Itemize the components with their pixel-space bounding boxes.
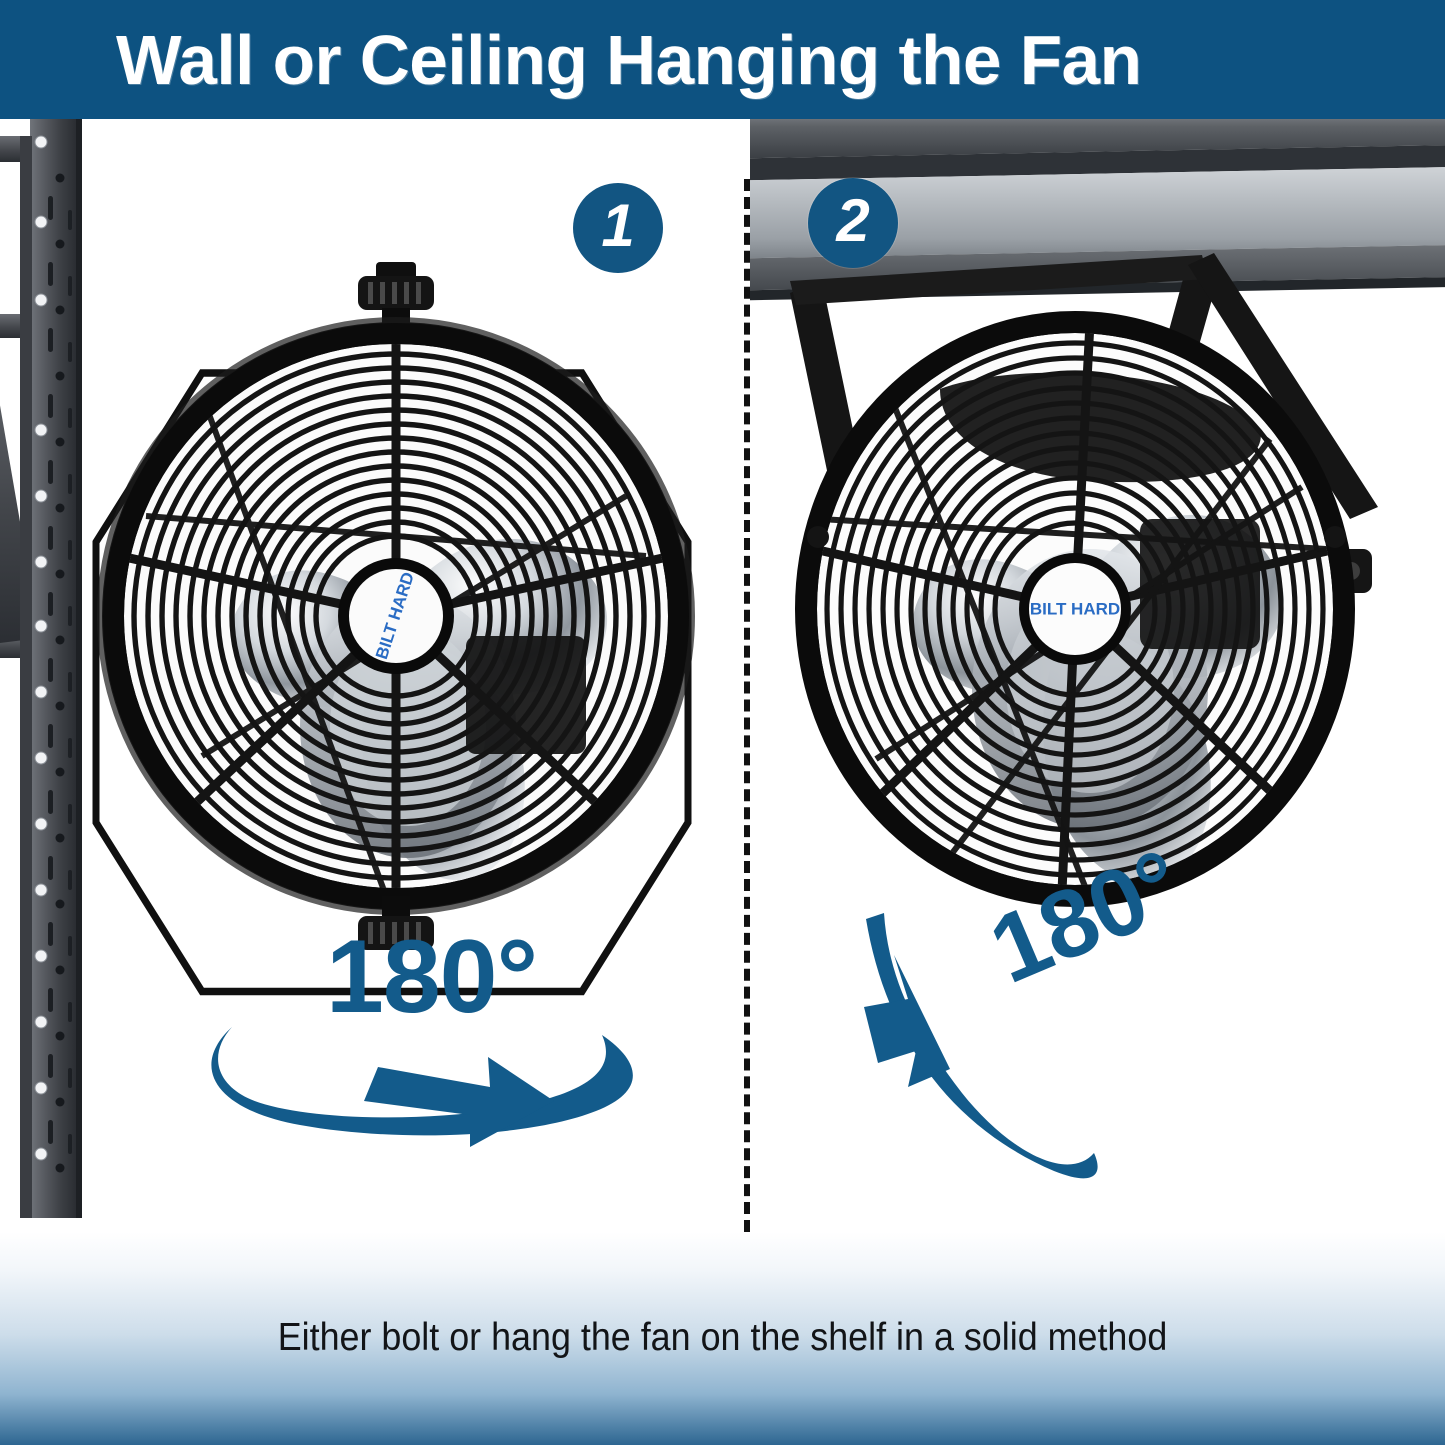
illustration-stage: BILT HARD — [0, 119, 1445, 1232]
page-title: Wall or Ceiling Hanging the Fan — [116, 25, 1141, 95]
panel-divider — [744, 179, 750, 1232]
step-badge-2-number: 2 — [836, 191, 869, 251]
step-badge-1[interactable]: 1 — [573, 183, 663, 273]
pivot-bolt-left — [807, 526, 829, 548]
footer-banner: Either bolt or hang the fan on the shelf… — [0, 1232, 1445, 1445]
vertical-tilt-graphic: 180° — [858, 879, 1238, 1229]
horizontal-rotation-graphic: 180° — [150, 919, 690, 1179]
step-badge-1-number: 1 — [601, 196, 634, 256]
header-banner: Wall or Ceiling Hanging the Fan — [0, 0, 1445, 119]
rack-svg — [0, 119, 92, 1218]
arrow-head — [864, 955, 950, 1087]
footer-caption: Either bolt or hang the fan on the shelf… — [58, 1316, 1387, 1360]
pivot-bolt-right — [1324, 526, 1346, 548]
hub-brand-text: BILT HARD — [1030, 599, 1120, 618]
step-badge-2[interactable]: 2 — [808, 178, 898, 268]
steel-rack-upright — [0, 119, 92, 1218]
infographic-page: Wall or Ceiling Hanging the Fan — [0, 0, 1445, 1445]
rotation-degrees-left: 180° — [326, 925, 537, 1029]
